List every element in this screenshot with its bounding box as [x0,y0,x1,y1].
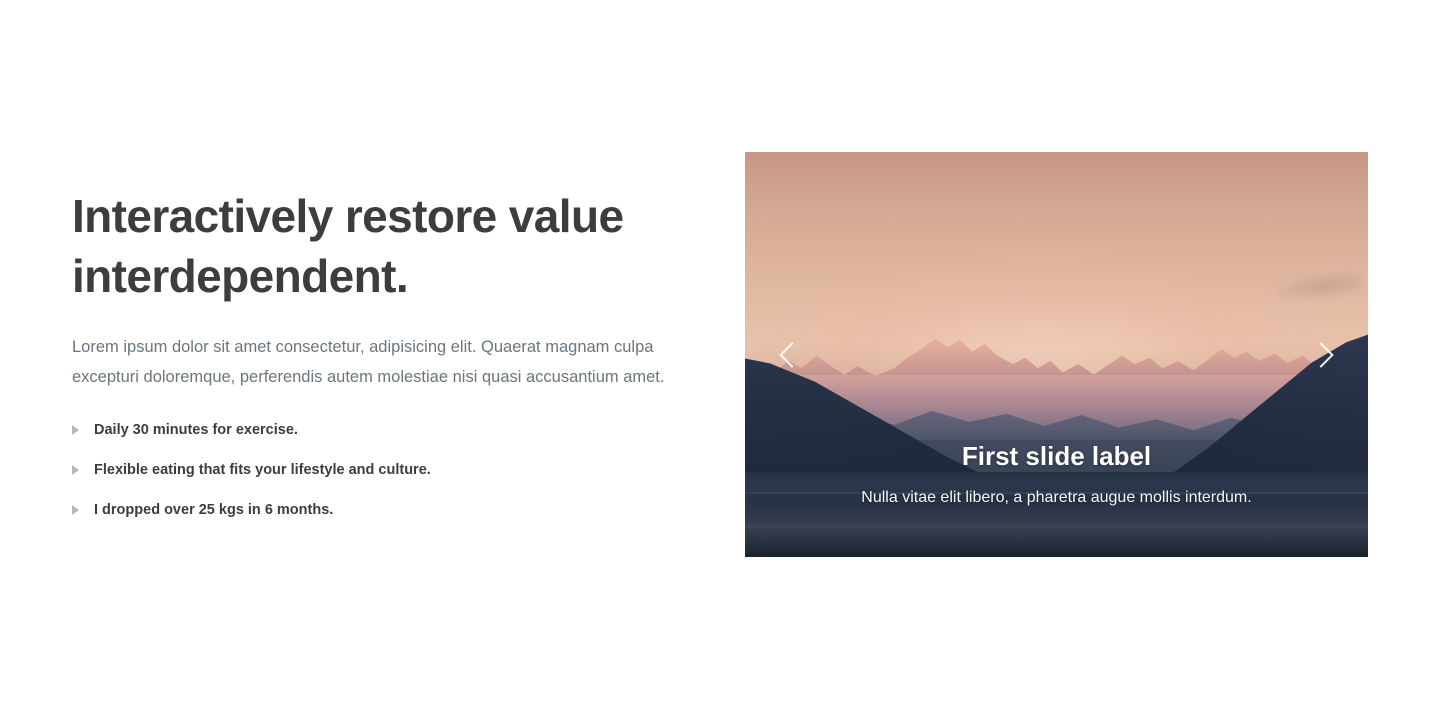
carousel-caption-text: Nulla vitae elit libero, a pharetra augu… [838,486,1274,509]
chevron-right-icon [1309,342,1334,367]
chevron-left-icon [779,342,804,367]
carousel-caption: First slide label Nulla vitae elit liber… [838,441,1274,509]
carousel[interactable]: First slide label Nulla vitae elit liber… [745,152,1368,557]
list-item-label: Daily 30 minutes for exercise. [94,422,298,438]
caret-right-icon [72,465,79,475]
list-item: Flexible eating that fits your lifestyle… [72,460,692,480]
content-column: Interactively restore value interdepende… [72,186,692,520]
carousel-indicator-3[interactable] [1076,515,1108,535]
carousel-prev-button[interactable] [745,152,838,557]
carousel-indicators [745,515,1368,535]
page-root: Interactively restore value interdepende… [0,0,1440,720]
page-title: Interactively restore value interdepende… [72,186,692,306]
caret-right-icon [72,505,79,515]
list-item: Daily 30 minutes for exercise. [72,420,692,440]
list-item-label: Flexible eating that fits your lifestyle… [94,462,431,478]
feature-list: Daily 30 minutes for exercise. Flexible … [72,420,692,520]
carousel-indicator-1[interactable] [1006,515,1038,535]
lead-paragraph: Lorem ipsum dolor sit amet consectetur, … [72,332,690,392]
list-item-label: I dropped over 25 kgs in 6 months. [94,502,333,518]
carousel-next-button[interactable] [1275,152,1368,557]
list-item: I dropped over 25 kgs in 6 months. [72,500,692,520]
carousel-caption-title: First slide label [838,441,1274,472]
carousel-indicator-2[interactable] [1041,515,1073,535]
caret-right-icon [72,425,79,435]
